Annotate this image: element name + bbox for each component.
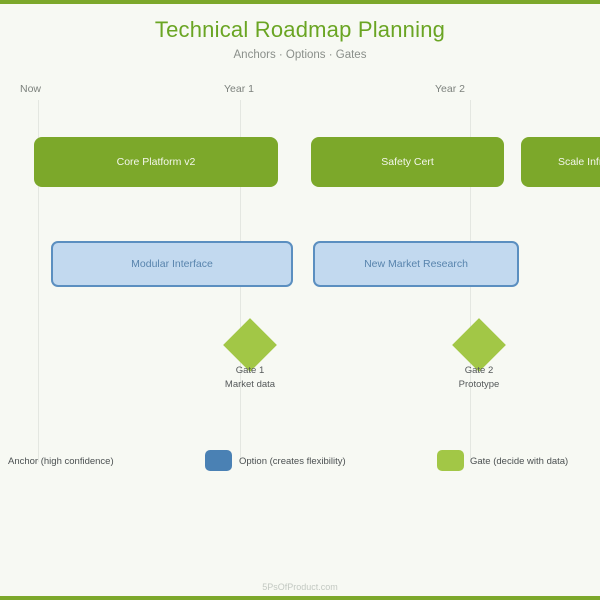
gate-2-criterion: Prototype [409,378,549,392]
legend-swatch-option [205,450,232,471]
anchor-bar-core-platform-v2[interactable]: Core Platform v2 [34,137,278,187]
option-box-new-market-research[interactable]: New Market Research [313,241,519,287]
legend-label-option: Option (creates flexibility) [239,456,346,467]
page-subtitle: Anchors · Options · Gates [0,49,600,61]
tick-label-year-2: Year 2 [435,83,465,95]
tick-label-year-1: Year 1 [224,83,254,95]
page-title: Technical Roadmap Planning [0,17,600,43]
gate-1-criterion: Market data [180,378,320,392]
gate-1-name: Gate 1 [180,364,320,378]
footer-attribution: 5PsOfProduct.com [0,582,600,592]
bottom-accent-bar [0,596,600,600]
gate-2-name: Gate 2 [409,364,549,378]
anchor-bar-safety-cert[interactable]: Safety Cert [311,137,504,187]
tick-label-now: Now [20,83,41,95]
anchor-bar-scale-infrastructure[interactable]: Scale Infrastructure [521,137,600,187]
legend-swatch-gate [437,450,464,471]
option-box-modular-interface[interactable]: Modular Interface [51,241,293,287]
top-accent-bar [0,0,600,4]
legend-label-gate: Gate (decide with data) [470,456,568,467]
roadmap-canvas: Technical Roadmap Planning Anchors · Opt… [0,0,600,600]
legend-label-anchor: Anchor (high confidence) [8,456,114,467]
